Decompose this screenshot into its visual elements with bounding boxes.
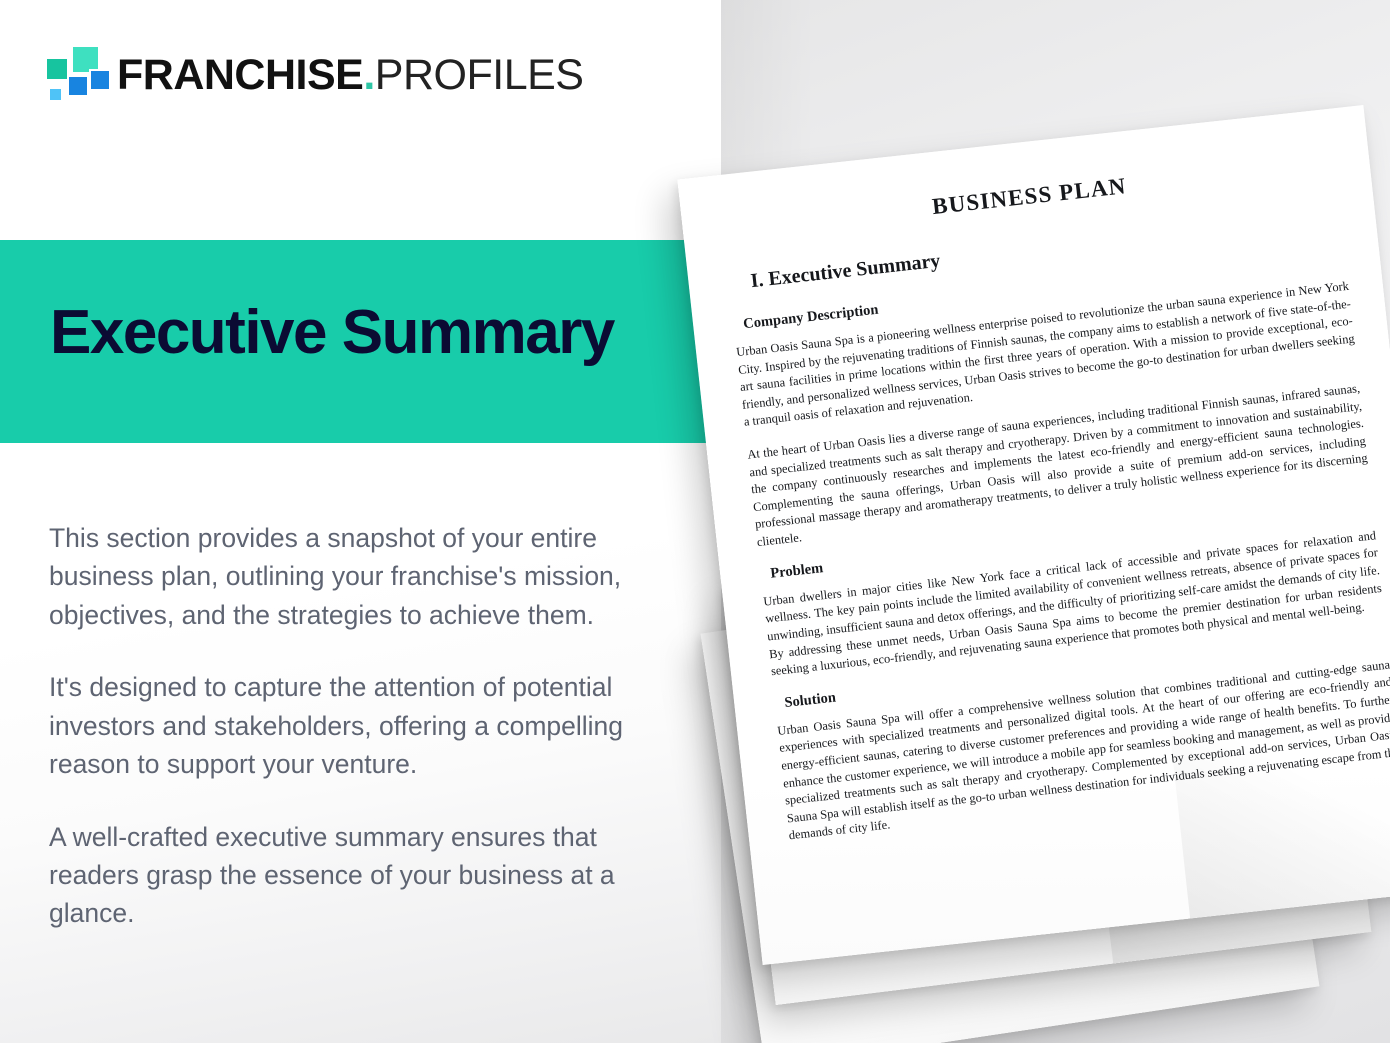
brand-name-dot: .	[363, 51, 374, 99]
body-paragraph-1: This section provides a snapshot of your…	[49, 519, 629, 634]
brand-name-light: PROFILES	[375, 51, 584, 99]
document-stack-image: d de an wellness demands of city life. B…	[700, 120, 1390, 1043]
brand-name-bold: FRANCHISE	[117, 51, 363, 99]
document-paragraph-problem-1: Urban dwellers in major cities like New …	[763, 527, 1385, 681]
brand-wordmark: FRANCHISE.PROFILES	[117, 42, 583, 108]
brand-logo[interactable]: FRANCHISE.PROFILES	[45, 42, 565, 108]
logo-square-teal-dark	[45, 57, 69, 81]
body-paragraph-3: A well-crafted executive summary ensures…	[49, 818, 629, 933]
body-paragraph-2: It's designed to capture the attention o…	[49, 668, 629, 783]
logo-square-blue-right	[89, 69, 111, 91]
document-sheet-front: BUSINESS PLAN I. Executive Summary Compa…	[677, 105, 1390, 965]
slide-canvas: FRANCHISE.PROFILES Executive Summary Thi…	[0, 0, 1390, 1043]
body-copy: This section provides a snapshot of your…	[49, 519, 629, 933]
logo-squares-icon	[45, 45, 107, 101]
page-title: Executive Summary	[50, 297, 614, 368]
logo-square-blue-small	[48, 87, 63, 102]
logo-square-blue-left	[67, 75, 89, 97]
document-page-content: BUSINESS PLAN I. Executive Summary Compa…	[677, 105, 1390, 965]
